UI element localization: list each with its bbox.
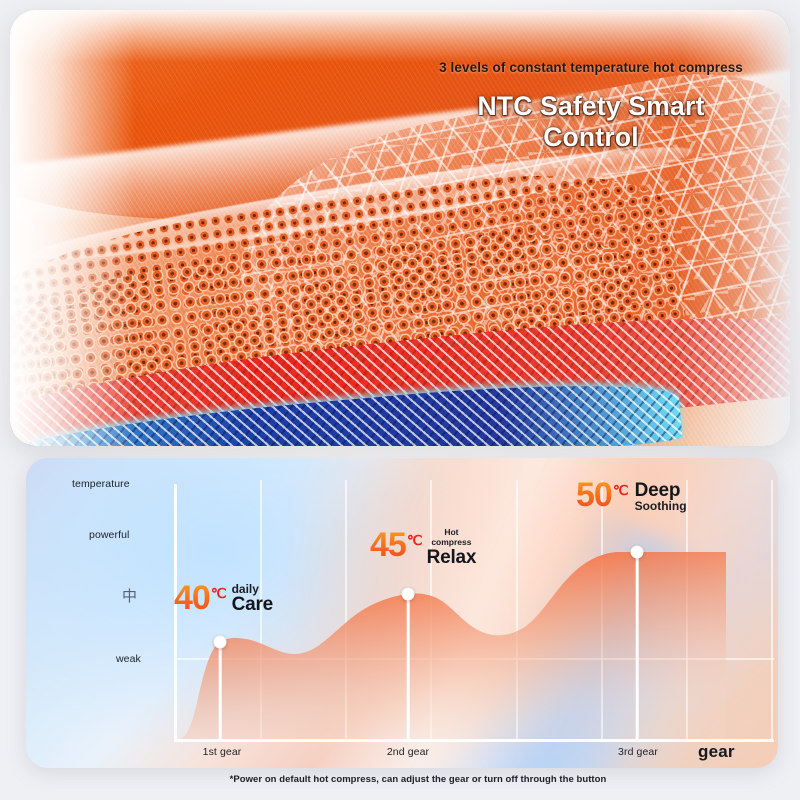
- annotation-50c-value: 50: [576, 480, 612, 511]
- product-photo-card: 3 levels of constant temperature hot com…: [10, 10, 790, 446]
- annotation-45c: 45 ℃ Hot compress Relax: [370, 530, 476, 567]
- x-axis-line: [174, 739, 774, 742]
- annotation-45c-large: Relax: [427, 548, 477, 567]
- footnote: *Power on default hot compress, can adju…: [0, 774, 800, 785]
- hero-title: NTC Safety Smart Control: [426, 91, 756, 153]
- data-point-3rd-gear[interactable]: [631, 546, 644, 559]
- hero-kicker: 3 levels of constant temperature hot com…: [426, 56, 756, 80]
- y-axis-title: temperature: [72, 478, 130, 490]
- area-fill: [176, 552, 726, 740]
- x-tick-3rd-gear: 3rd gear: [618, 746, 658, 758]
- data-point-2nd-gear[interactable]: [402, 588, 415, 601]
- x-tick-2nd-gear: 2nd gear: [387, 746, 429, 758]
- stem-2nd-gear: [407, 594, 410, 740]
- annotation-45c-unit: ℃: [407, 533, 423, 547]
- photo-top-vignette: [10, 10, 790, 62]
- photo-left-vignette: [10, 10, 135, 446]
- annotation-40c: 40 ℃ daily Care: [174, 583, 273, 615]
- infographic-page: 3 levels of constant temperature hot com…: [0, 0, 800, 800]
- annotation-50c-large: Deep: [635, 481, 687, 500]
- annotation-40c-value: 40: [174, 583, 210, 614]
- hero-headline: 3 levels of constant temperature hot com…: [426, 56, 756, 153]
- footnote-text: *Power on default hot compress, can adju…: [188, 774, 607, 785]
- stem-3rd-gear: [636, 552, 639, 740]
- annotation-50c: 50 ℃ Deep Soothing: [576, 480, 687, 513]
- stem-1st-gear: [219, 642, 222, 740]
- x-axis-title: gear: [698, 742, 735, 762]
- temperature-chart-card: temperature powerful 中 weak 1st gear 2nd…: [26, 458, 778, 768]
- annotation-50c-unit: ℃: [613, 483, 629, 497]
- annotation-40c-large: Care: [232, 595, 273, 614]
- x-tick-1st-gear: 1st gear: [203, 746, 242, 758]
- y-tick-weak: weak: [116, 653, 141, 665]
- y-tick-medium: 中: [122, 585, 137, 606]
- annotation-50c-small: Soothing: [635, 500, 687, 512]
- annotation-45c-value: 45: [370, 530, 406, 561]
- chart-plot-area: temperature powerful 中 weak 1st gear 2nd…: [26, 458, 778, 768]
- y-tick-powerful: powerful: [89, 529, 130, 541]
- data-point-1st-gear[interactable]: [214, 636, 227, 649]
- annotation-40c-unit: ℃: [211, 586, 227, 600]
